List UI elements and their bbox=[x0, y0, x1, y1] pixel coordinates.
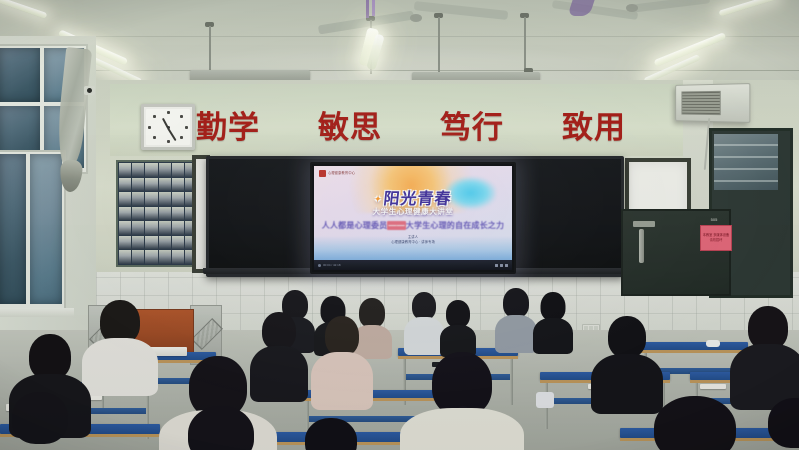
student-back-5 bbox=[442, 300, 474, 354]
settings-icon[interactable] bbox=[495, 264, 498, 267]
light-rod bbox=[209, 26, 211, 70]
player-time: 00:04 / 42:18 bbox=[323, 263, 341, 267]
door-plate bbox=[633, 221, 655, 227]
ceiling-cable bbox=[366, 0, 369, 18]
ceiling-fan bbox=[318, 4, 518, 34]
slide-topic-prefix: 人人都是心理委员 bbox=[322, 221, 388, 230]
ceiling-cable bbox=[372, 0, 375, 16]
slide-credit-line2: 心理健康教育中心 · 讲师专场 bbox=[314, 240, 512, 245]
logo-text: 心理健康教育中心 bbox=[328, 172, 355, 176]
sparkle-icon: ✦ bbox=[373, 194, 383, 204]
motto-char-4: 致用 bbox=[562, 102, 626, 147]
play-icon[interactable] bbox=[318, 264, 321, 267]
slide-title-text: 阳光青春 bbox=[383, 189, 453, 208]
presentation-slide: 心理健康教育中心 ✦阳光青春 大学生心理健康大讲堂 人人都是心理委员——大学生心… bbox=[314, 166, 512, 260]
slide-credit: 主讲人 心理健康教育中心 · 讲师专场 bbox=[314, 235, 512, 245]
motto-char-1: 勤学 bbox=[196, 102, 260, 147]
student-mid-left-white bbox=[92, 300, 148, 390]
motto-char-3: 笃行 bbox=[440, 102, 504, 147]
slide-topic-highlight: —— bbox=[387, 221, 405, 230]
student-mid-far-right bbox=[740, 306, 796, 404]
tissue-pack bbox=[706, 340, 720, 347]
student-front-2 bbox=[420, 352, 504, 450]
ceiling-seam bbox=[0, 36, 799, 37]
slide-title: ✦阳光青春 bbox=[314, 185, 512, 209]
student-front-5 bbox=[0, 392, 80, 450]
student-front-7 bbox=[760, 398, 799, 450]
window-sill bbox=[0, 308, 74, 317]
student-back-7 bbox=[536, 292, 570, 352]
student-mid-2 bbox=[256, 312, 302, 396]
logo-mark-icon bbox=[319, 170, 326, 177]
wall-motto: 勤学 敏思 笃行 致用 bbox=[196, 98, 626, 150]
door-handle[interactable] bbox=[639, 229, 644, 263]
player-right-controls[interactable] bbox=[495, 264, 508, 267]
student-front-4 bbox=[640, 396, 750, 450]
slide-logo: 心理健康教育中心 bbox=[319, 170, 355, 177]
student-front-3 bbox=[176, 406, 266, 450]
door-notice-sign: 本教室 多媒体设备 请勿损坏 bbox=[700, 225, 732, 251]
room-number: 505 bbox=[703, 217, 725, 224]
slide-topic-suffix: 大学生心理的自在成长之力 bbox=[406, 221, 504, 230]
student-mid-3 bbox=[318, 316, 366, 402]
light-rod bbox=[524, 17, 526, 74]
slide-topic: 人人都是心理委员——大学生心理的自在成长之力 bbox=[314, 220, 512, 231]
light-rod bbox=[438, 17, 440, 74]
captions-icon[interactable] bbox=[500, 264, 503, 267]
slide-subtitle: 大学生心理健康大讲堂 bbox=[314, 206, 512, 217]
wall-speaker bbox=[675, 83, 750, 123]
student-front-6 bbox=[296, 418, 366, 450]
notebook bbox=[700, 384, 726, 389]
classroom-scene: 勤学 敏思 笃行 致用 bbox=[0, 0, 799, 450]
fullscreen-icon[interactable] bbox=[505, 264, 508, 267]
motto-char-2: 敏思 bbox=[318, 102, 382, 147]
student-back-4-side bbox=[406, 292, 442, 354]
clock-minute-hand bbox=[167, 127, 176, 141]
speaker-grille-icon bbox=[681, 91, 720, 115]
projection-screen[interactable]: 心理健康教育中心 ✦阳光青春 大学生心理健康大讲堂 人人都是心理委员——大学生心… bbox=[310, 162, 516, 274]
class-photo-board bbox=[116, 160, 200, 267]
security-camera-icon bbox=[84, 86, 95, 95]
window-lower bbox=[0, 150, 66, 310]
player-left-controls[interactable]: 00:04 / 42:18 bbox=[318, 263, 341, 267]
white-bag bbox=[536, 392, 554, 408]
student-mid-right bbox=[600, 316, 654, 406]
clock-face bbox=[146, 109, 190, 145]
wall-clock bbox=[141, 104, 195, 150]
media-player-bar[interactable]: 00:04 / 42:18 bbox=[314, 260, 512, 270]
student-back-6 bbox=[498, 288, 534, 352]
